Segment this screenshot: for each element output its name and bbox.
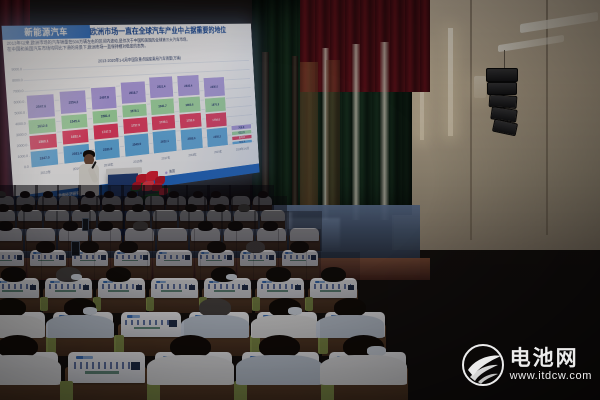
seat-cover-calligraphy	[158, 255, 187, 259]
wall-lamp	[474, 76, 486, 98]
seat-cover-calligraphy	[155, 284, 193, 288]
seat-cover	[153, 210, 177, 221]
y-axis-tick-label: 9000.0	[11, 67, 22, 71]
y-axis-tick-label: 0.0	[24, 164, 29, 168]
audience-member-head	[104, 191, 114, 197]
face-mask	[367, 346, 386, 356]
seat-cover	[68, 352, 145, 383]
seat-armrest	[60, 381, 73, 400]
stage-valance-red	[300, 0, 430, 92]
x-axis-tick-label: 2016年	[125, 156, 150, 168]
audience-member-head	[133, 221, 149, 231]
seat-cover-calligraphy	[208, 284, 246, 288]
face-mask	[83, 307, 98, 315]
bar-column: 2430.01876.31754.62368.2	[202, 61, 229, 148]
seat-cover-subtitle	[134, 327, 160, 329]
bar-segment-日本: 1960.6	[177, 96, 201, 114]
y-axis-tick-label: 6000.0	[14, 100, 25, 105]
smartphone	[71, 241, 80, 256]
seat-armrest	[146, 297, 154, 312]
qr-code-icon	[131, 362, 140, 370]
audience-member-head	[207, 241, 227, 253]
seat-cover-calligraphy	[74, 362, 136, 369]
audience-member-head	[80, 241, 100, 253]
bar-segment-日本: 1941.7	[150, 97, 175, 116]
audience-member-head	[98, 221, 114, 231]
slide-tag-label: 新能源汽车	[3, 26, 86, 40]
qr-code-icon	[189, 285, 195, 290]
seat-cover-subtitle	[85, 371, 119, 373]
y-axis-tick-label: 8000.0	[12, 78, 23, 82]
audience-member-head	[85, 191, 95, 197]
seat-cover-subtitle	[2, 290, 23, 292]
stacked-bar-chart: 0.01000.02000.03000.04000.05000.06000.07…	[10, 60, 254, 181]
bar-column: 700.0612.0570.0521.0	[227, 60, 253, 145]
audience-member-shoulders	[147, 355, 233, 385]
watermark: 电池网 www.itdcw.com	[462, 344, 592, 386]
seat-cover	[158, 228, 187, 241]
audience-member-head	[132, 204, 145, 212]
audience-member-shoulders	[316, 315, 383, 339]
qr-code-icon	[101, 255, 105, 259]
audience-member-shoulders	[46, 315, 113, 339]
audience-member-head	[63, 221, 79, 231]
bar-segment-美国: 2430.0	[203, 76, 226, 98]
watermark-name: 电池网	[510, 348, 592, 370]
speaker-module	[487, 82, 517, 95]
bar-column: 2518.71570.11757.52549.9	[119, 64, 150, 157]
qr-code-icon	[83, 285, 89, 290]
audience-member-head	[263, 221, 279, 231]
seat-cover-calligraphy	[314, 284, 352, 288]
seat-cover-calligraphy	[284, 255, 313, 259]
audience-member-shoulders	[320, 355, 406, 385]
x-axis-tick-label: 2019年	[207, 147, 229, 158]
seat-cover-calligraphy	[242, 255, 271, 259]
speaker-module	[486, 68, 518, 82]
audience-member-head	[127, 191, 137, 197]
x-axis-tick-label: 2018年	[181, 149, 204, 160]
seat-cover-subtitle	[248, 260, 264, 261]
qr-code-icon	[59, 255, 63, 259]
audience-member-head	[246, 241, 266, 253]
audience-member-head	[21, 204, 34, 212]
audience-member-head	[193, 191, 203, 197]
seat-cover-subtitle	[161, 290, 182, 292]
x-axis-tick-label: 2017年	[154, 152, 178, 164]
wall-light-strip	[448, 28, 453, 136]
smartphone	[82, 218, 90, 232]
seat-cover-subtitle	[108, 290, 129, 292]
bar-segment-美国: 2497.8	[90, 86, 118, 111]
audience-member-head	[0, 204, 9, 212]
bar-segment-美国: 2554.2	[59, 90, 88, 116]
bar-segment-美国: 2518.7	[120, 81, 146, 105]
audience-member-head	[43, 191, 53, 197]
face-mask	[71, 274, 83, 280]
seat-cover-logo-icon	[127, 315, 140, 317]
seat-cover-subtitle	[214, 290, 235, 292]
bar-column: 2546.41960.61750.32558.6	[175, 62, 203, 151]
seat-cover-calligraphy	[125, 320, 173, 325]
seat-cover-calligraphy	[102, 284, 140, 288]
watermark-url: www.itdcw.com	[510, 370, 592, 383]
seat-armrest	[114, 335, 124, 353]
speaker-rigging-rod	[504, 50, 505, 70]
y-axis-tick-label: 4000.0	[15, 121, 26, 126]
seat-cover-calligraphy	[200, 255, 229, 259]
audience-member-head	[106, 267, 131, 282]
globe-swoosh-logo-icon	[462, 344, 504, 386]
qr-code-icon	[311, 255, 315, 259]
seat-armrest	[40, 297, 48, 312]
y-axis-tick-label: 2000.0	[17, 143, 28, 148]
seat-cover-subtitle	[267, 290, 288, 292]
audience-member-head	[103, 204, 116, 212]
x-axis-tick-label: 2020年1-6月	[232, 144, 253, 155]
audience-member-head	[0, 221, 13, 231]
audience-member-head	[258, 191, 268, 197]
y-axis-tick-label: 3000.0	[16, 132, 27, 137]
seat-cover-logo-icon	[50, 281, 60, 283]
bar-column: 2547.61612.61560.11847.0	[24, 68, 60, 168]
bar-segment-中国: 2652.1	[152, 129, 177, 155]
bar-segment-中国: 2549.9	[124, 132, 150, 157]
seat-cover-subtitle	[320, 290, 341, 292]
watermark-text: 电池网 www.itdcw.com	[510, 348, 592, 383]
seat-cover-logo-icon	[76, 356, 93, 359]
qr-code-icon	[227, 255, 231, 259]
qr-code-icon	[185, 255, 189, 259]
seat-cover-logo-icon	[315, 281, 325, 283]
bar-segment-美国: 2547.6	[26, 93, 56, 120]
seat-cover-subtitle	[122, 260, 138, 261]
audience-member-head	[185, 204, 198, 212]
bar-segment-美国: 2521.4	[149, 75, 174, 99]
seat-cover	[45, 210, 69, 221]
audience-member-head	[79, 204, 92, 212]
face-mask	[288, 307, 303, 315]
seat-cover-subtitle	[164, 260, 180, 261]
audience-member-head	[36, 241, 56, 253]
qr-code-icon	[136, 285, 142, 290]
bar-column: 2521.41941.71725.12652.1	[148, 63, 177, 154]
seat-cover	[0, 250, 24, 266]
audience-member-shoulders	[236, 355, 322, 385]
audience-member-head	[290, 241, 310, 253]
bar-segment-美国: 2546.4	[176, 74, 200, 97]
y-axis-tick-label: 7000.0	[13, 89, 24, 94]
seat-cover-logo-icon	[201, 252, 209, 254]
auditorium-photo: 新能源汽车 欧洲市场一直在全球汽车产业中占据重要的地位 2013年以来,欧洲市场…	[0, 0, 600, 400]
seat-cover-subtitle	[0, 260, 12, 261]
line-array-speaker	[486, 68, 520, 140]
audience-member-head	[20, 191, 30, 197]
x-axis-tick-label: 2013年	[31, 166, 60, 179]
bar-segment-中国: 2558.6	[179, 127, 203, 151]
qr-code-icon	[143, 255, 147, 259]
audience-member-head	[169, 191, 179, 197]
seat-cover-subtitle	[55, 290, 76, 292]
audience-member-shoulders	[0, 355, 61, 385]
audience-member-head	[238, 204, 251, 212]
seat-armrest	[252, 297, 260, 312]
seat-cover-logo-icon	[285, 252, 293, 254]
seat-cover	[145, 196, 164, 205]
qr-code-icon	[242, 285, 248, 290]
y-axis-tick-label: 5000.0	[14, 111, 25, 116]
seat-cover-calligraphy	[261, 284, 299, 288]
audience-member-head	[198, 221, 214, 231]
audience-member-head	[228, 221, 244, 231]
seat-cover-logo-icon	[156, 281, 166, 283]
qr-code-icon	[169, 320, 176, 326]
seat-cover-subtitle	[206, 260, 222, 261]
audience-member-head	[214, 204, 227, 212]
bar-segment-中国: 1847.0	[30, 148, 60, 169]
seat-cover	[261, 210, 285, 221]
qr-code-icon	[269, 255, 273, 259]
audience-member-head	[266, 267, 291, 282]
qr-code-icon	[30, 285, 36, 290]
audience-member-head	[321, 267, 346, 282]
face-mask	[226, 274, 238, 280]
seat-cover	[121, 312, 181, 337]
qr-code-icon	[348, 285, 354, 290]
seat-cover	[156, 250, 193, 266]
seat-armrest	[305, 297, 313, 312]
seat-cover-subtitle	[290, 260, 306, 261]
seat-cover	[290, 228, 319, 241]
y-axis-tick-label: 1000.0	[17, 154, 28, 159]
audience-member-head	[211, 191, 221, 197]
seat-cover	[59, 196, 78, 205]
seat-cover-calligraphy	[32, 255, 61, 259]
bar-column: 2497.81581.41747.52181.9	[89, 65, 121, 161]
qr-code-icon	[17, 255, 21, 259]
stage-door	[326, 60, 340, 210]
audience-member-head	[119, 241, 139, 253]
seat-cover-calligraphy	[116, 255, 145, 259]
audience-member-head	[1, 267, 26, 282]
seat-cover-subtitle	[80, 260, 96, 261]
seat-cover-calligraphy	[49, 284, 87, 288]
seat-cover	[26, 228, 55, 241]
seat-cover	[151, 278, 198, 298]
seat-cover-subtitle	[38, 260, 54, 261]
qr-code-icon	[295, 285, 301, 290]
bar-segment-中国: 2368.2	[206, 126, 229, 148]
seat-cover-calligraphy	[0, 284, 33, 288]
seat-cover-logo-icon	[159, 252, 167, 254]
